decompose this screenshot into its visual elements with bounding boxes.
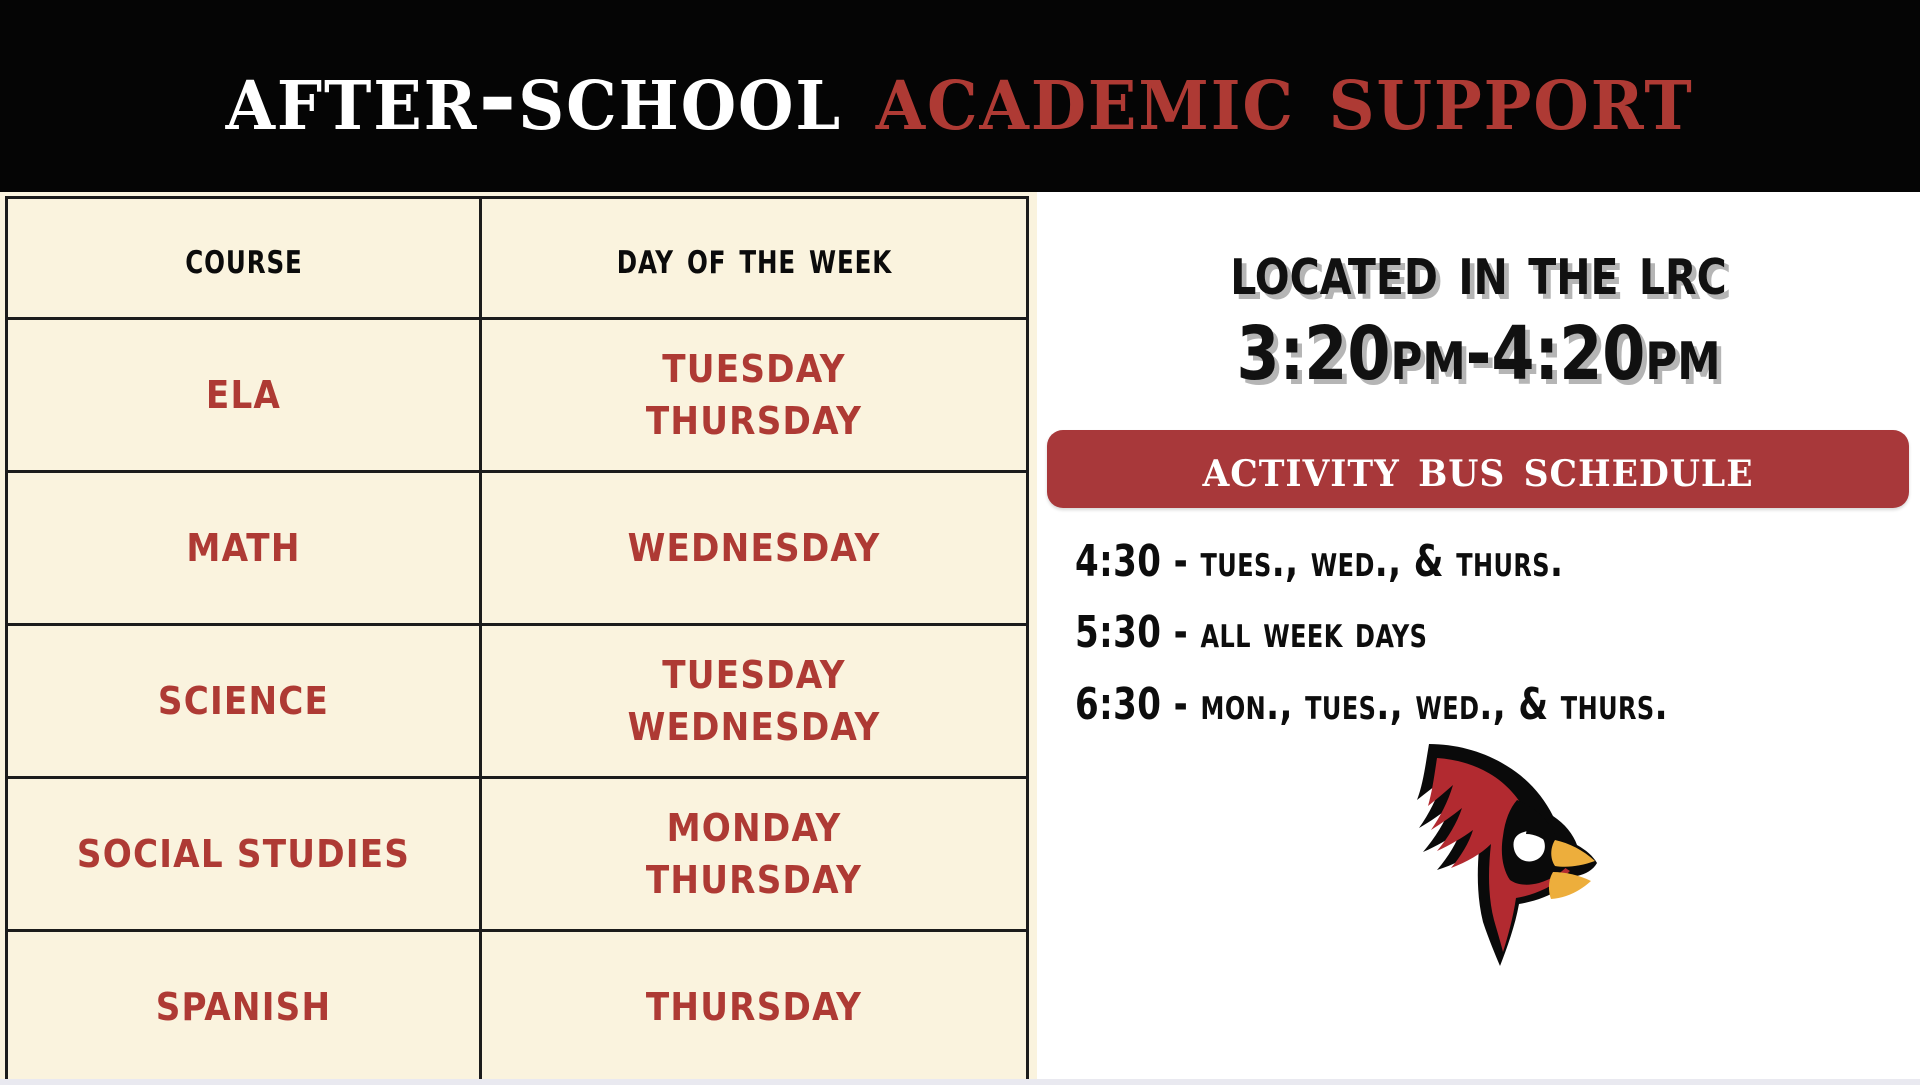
- course-cell: SPANISH: [7, 931, 481, 1084]
- day-cell: WEDNESDAY: [481, 472, 1028, 625]
- cardinal-mascot-icon: [1367, 722, 1617, 972]
- day-line: WEDNESDAY: [482, 701, 1026, 753]
- bus-time-line: 4:30 - Tues., Wed., & Thurs.: [1075, 526, 1802, 597]
- page-title-part-one: After-School: [226, 39, 842, 152]
- poster-header-band: After-School Academic Support: [0, 0, 1920, 192]
- activity-bus-schedule-label: Activity Bus Schedule: [1202, 443, 1753, 495]
- location-block: Located in the LRC 3:20pm-4:20pm: [1037, 230, 1920, 398]
- day-line: WEDNESDAY: [482, 522, 1026, 574]
- day-cell: THURSDAY: [481, 931, 1028, 1084]
- table-row: SPANISH THURSDAY: [7, 931, 1028, 1084]
- day-list: TUESDAYWEDNESDAY: [482, 649, 1026, 754]
- day-line: TUESDAY: [482, 343, 1026, 395]
- day-list: THURSDAY: [482, 981, 1026, 1033]
- table-row: MATH WEDNESDAY: [7, 472, 1028, 625]
- column-header-day: Day of the Week: [513, 198, 994, 319]
- day-list: WEDNESDAY: [482, 522, 1026, 574]
- time-range-text: 3:20pm-4:20pm: [1068, 311, 1889, 398]
- column-header-course: Course: [35, 198, 452, 319]
- course-label: ELA: [206, 373, 281, 417]
- activity-bus-schedule-banner: Activity Bus Schedule: [1047, 430, 1909, 508]
- day-list: TUESDAYTHURSDAY: [482, 343, 1026, 448]
- course-label: SPANISH: [156, 985, 332, 1029]
- day-list: MONDAYTHURSDAY: [482, 802, 1026, 907]
- course-cell: SOCIAL STUDIES: [7, 778, 481, 931]
- info-panel: Located in the LRC 3:20pm-4:20pm Activit…: [1037, 192, 1920, 1079]
- location-text: Located in the LRC: [1068, 230, 1889, 311]
- day-cell: MONDAYTHURSDAY: [481, 778, 1028, 931]
- course-cell: MATH: [7, 472, 481, 625]
- course-label: SOCIAL STUDIES: [77, 832, 410, 876]
- bottom-divider: [0, 1079, 1920, 1085]
- bus-time-line: 5:30 - all week days: [1075, 597, 1802, 668]
- day-cell: TUESDAYTHURSDAY: [481, 319, 1028, 472]
- day-line: TUESDAY: [482, 649, 1026, 701]
- bus-times-list: 4:30 - Tues., Wed., & Thurs. 5:30 - all …: [1075, 526, 1920, 740]
- table-row: SOCIAL STUDIES MONDAYTHURSDAY: [7, 778, 1028, 931]
- day-line: THURSDAY: [482, 981, 1026, 1033]
- page-title: After-School Academic Support: [226, 48, 1694, 144]
- day-cell: TUESDAYWEDNESDAY: [481, 625, 1028, 778]
- course-label: MATH: [186, 526, 300, 570]
- table-row: SCIENCE TUESDAYWEDNESDAY: [7, 625, 1028, 778]
- course-label: SCIENCE: [158, 679, 329, 723]
- day-line: MONDAY: [482, 802, 1026, 854]
- poster-canvas: After-School Academic Support Course Day…: [0, 0, 1920, 1085]
- page-title-space: [842, 39, 876, 152]
- page-title-part-two: Academic Support: [876, 39, 1694, 152]
- course-schedule-table: Course Day of the Week ELA TUESDAYTHURSD…: [5, 196, 1029, 1085]
- course-cell: SCIENCE: [7, 625, 481, 778]
- table-header-row: Course Day of the Week: [7, 198, 1028, 319]
- table-body: ELA TUESDAYTHURSDAY MATH WEDNESDAY SCIEN…: [7, 319, 1028, 1084]
- day-line: THURSDAY: [482, 854, 1026, 906]
- course-cell: ELA: [7, 319, 481, 472]
- table-row: ELA TUESDAYTHURSDAY: [7, 319, 1028, 472]
- day-line: THURSDAY: [482, 395, 1026, 447]
